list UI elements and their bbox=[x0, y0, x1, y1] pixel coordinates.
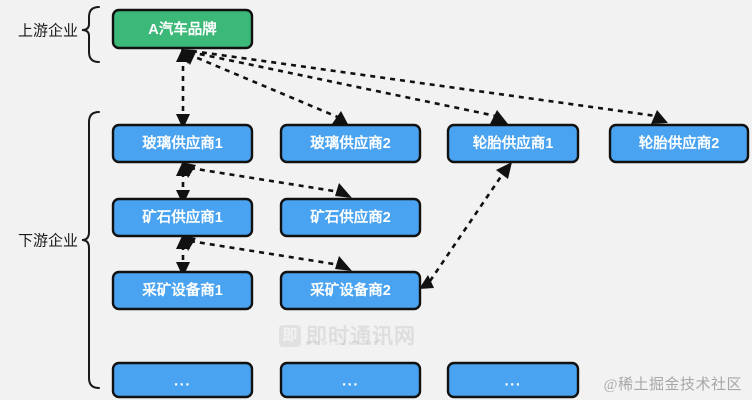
edge-brand-tire2 bbox=[181, 49, 668, 124]
arrowhead-down bbox=[490, 110, 508, 124]
node-more-1[interactable]: ... bbox=[113, 363, 252, 397]
upstream-label: 上游企业 bbox=[18, 22, 78, 40]
node-tire-1[interactable]: 轮胎供应商1 bbox=[448, 125, 578, 162]
node-brand-a[interactable]: A汽车品牌 bbox=[113, 10, 252, 48]
node-more-3-label: ... bbox=[504, 373, 521, 390]
center-watermark-subtext: www.52im.net bbox=[306, 340, 386, 347]
corner-watermark: @稀土掘金技术社区 bbox=[604, 373, 742, 394]
center-watermark: 即 即时通讯网 bbox=[279, 317, 479, 355]
arrowhead-up-right bbox=[496, 162, 512, 179]
node-glass-2[interactable]: 玻璃供应商2 bbox=[281, 125, 420, 162]
edge-ore1-mining2 bbox=[181, 235, 352, 271]
group-downstream: 下游企业 bbox=[18, 112, 99, 388]
node-glass-1[interactable]: 玻璃供应商1 bbox=[113, 125, 252, 162]
node-ore-2[interactable]: 矿石供应商2 bbox=[281, 199, 420, 236]
downstream-brace bbox=[82, 112, 99, 388]
node-ore-2-label: 矿石供应商2 bbox=[310, 208, 391, 226]
node-tire-2[interactable]: 轮胎供应商2 bbox=[610, 125, 748, 162]
edge-layer bbox=[176, 47, 668, 289]
upstream-brace bbox=[82, 7, 99, 62]
node-glass-1-label: 玻璃供应商1 bbox=[142, 134, 223, 152]
node-tire-2-label: 轮胎供应商2 bbox=[639, 134, 720, 152]
downstream-label: 下游企业 bbox=[18, 232, 78, 250]
node-more-1-label: ... bbox=[174, 373, 191, 390]
watermark-logo-icon: 即 bbox=[279, 325, 301, 347]
arrowhead-down bbox=[651, 110, 668, 124]
node-more-2[interactable]: ... bbox=[281, 363, 420, 397]
node-tire-1-label: 轮胎供应商1 bbox=[473, 134, 554, 152]
node-ore-1[interactable]: 矿石供应商1 bbox=[113, 199, 252, 236]
edge-brand-tire1 bbox=[181, 50, 508, 124]
edge-mining2-tire1 bbox=[419, 162, 512, 289]
node-mining-1-label: 采矿设备商1 bbox=[141, 281, 223, 299]
edge-glass1-ore2 bbox=[181, 162, 352, 198]
arrowhead-down bbox=[335, 183, 352, 198]
node-ore-1-label: 矿石供应商1 bbox=[142, 208, 223, 226]
arrowhead-down bbox=[335, 256, 352, 271]
node-more-2-label: ... bbox=[342, 373, 359, 390]
node-more-3[interactable]: ... bbox=[448, 363, 578, 397]
node-mining-2[interactable]: 采矿设备商2 bbox=[281, 272, 420, 309]
node-mining-2-label: 采矿设备商2 bbox=[309, 281, 391, 299]
node-mining-1[interactable]: 采矿设备商1 bbox=[113, 272, 252, 309]
node-glass-2-label: 玻璃供应商2 bbox=[310, 134, 391, 152]
group-upstream: 上游企业 bbox=[18, 7, 99, 62]
node-brand-a-label: A汽车品牌 bbox=[148, 20, 217, 38]
supply-chain-diagram-page: { "diagram": { "background_color": "#f2f… bbox=[0, 0, 752, 400]
